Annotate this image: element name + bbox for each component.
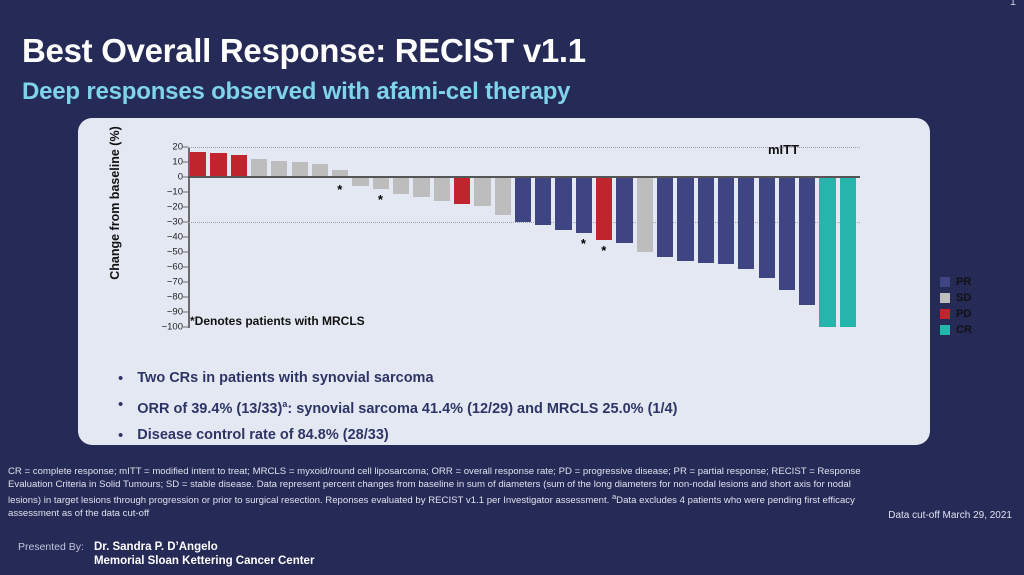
y-tick-mark (183, 327, 188, 328)
waterfall-bar (352, 177, 368, 186)
waterfall-bar (799, 177, 815, 305)
legend-item[interactable]: PR (940, 276, 972, 288)
content-card: Change from baseline (%) 20100−10−20−30−… (78, 118, 930, 445)
legend-item[interactable]: PD (940, 308, 972, 320)
plot-area: 20100−10−20−30−40−50−60−70−80−90−100**** (188, 147, 858, 327)
mitt-annotation: mITT (768, 142, 799, 157)
legend-item[interactable]: SD (940, 292, 972, 304)
waterfall-bar (312, 164, 328, 178)
waterfall-bar (840, 177, 856, 327)
y-tick-label: −90 (167, 307, 183, 318)
y-tick-mark (183, 297, 188, 298)
bullet-item: •Two CRs in patients with synovial sarco… (118, 370, 677, 387)
bullet-list: •Two CRs in patients with synovial sarco… (118, 370, 677, 453)
data-cutoff: Data cut-off March 29, 2021 (888, 510, 1012, 521)
bullet-item: •ORR of 39.4% (13/33)a: synovial sarcoma… (118, 396, 677, 418)
bullet-text: Disease control rate of 84.8% (28/33) (137, 427, 388, 444)
waterfall-bar (373, 177, 389, 189)
legend-label: SD (956, 292, 971, 304)
y-axis-label: Change from baseline (%) (108, 108, 122, 298)
mrcls-note: *Denotes patients with MRCLS (190, 314, 365, 328)
footnote: CR = complete response; mITT = modified … (8, 466, 868, 521)
y-tick-label: −40 (167, 232, 183, 243)
waterfall-bar (474, 177, 490, 206)
waterfall-bar (210, 153, 226, 177)
y-tick-label: 20 (172, 142, 183, 153)
y-tick-label: 10 (172, 157, 183, 168)
page-title: Best Overall Response: RECIST v1.1 (22, 32, 586, 70)
legend-label: CR (956, 324, 972, 336)
waterfall-bar (190, 152, 206, 178)
waterfall-bar (698, 177, 714, 263)
y-tick-mark (183, 192, 188, 193)
bullet-marker-icon: • (118, 370, 123, 387)
bullet-text: Two CRs in patients with synovial sarcom… (137, 370, 433, 387)
mrcls-star-marker: * (378, 193, 383, 206)
waterfall-bar (555, 177, 571, 230)
waterfall-bar (231, 155, 247, 178)
waterfall-bar (718, 177, 734, 264)
bullet-marker-icon: • (118, 396, 123, 413)
y-tick-mark (183, 207, 188, 208)
y-tick-label: −80 (167, 292, 183, 303)
y-tick-label: −50 (167, 247, 183, 258)
y-tick-label: −10 (167, 187, 183, 198)
legend-label: PD (956, 308, 971, 320)
y-tick-label: −30 (167, 217, 183, 228)
mrcls-star-marker: * (581, 237, 586, 250)
waterfall-bar (677, 177, 693, 261)
presenter-block: Presented By: Dr. Sandra P. D’Angelo Mem… (18, 540, 314, 568)
legend-swatch-icon (940, 277, 950, 287)
waterfall-bar (515, 177, 531, 222)
bullet-text: ORR of 39.4% (13/33)a: synovial sarcoma … (137, 396, 677, 418)
waterfall-bar (819, 177, 835, 327)
waterfall-bar (495, 177, 511, 215)
waterfall-bar (576, 177, 592, 233)
waterfall-chart: Change from baseline (%) 20100−10−20−30−… (78, 118, 930, 358)
page-number: 1 (1010, 0, 1016, 8)
legend-label: PR (956, 276, 971, 288)
waterfall-bar (413, 177, 429, 197)
waterfall-bar (434, 177, 450, 201)
legend-swatch-icon (940, 325, 950, 335)
y-tick-label: −100 (162, 322, 183, 333)
y-tick-label: −70 (167, 277, 183, 288)
y-tick-mark (183, 282, 188, 283)
waterfall-bar (271, 161, 287, 178)
waterfall-bar (779, 177, 795, 290)
waterfall-bar (616, 177, 632, 243)
bullet-superscript: a (282, 399, 287, 409)
waterfall-bar (251, 159, 267, 177)
zero-baseline (188, 176, 860, 178)
bullet-item: •Disease control rate of 84.8% (28/33) (118, 427, 677, 444)
waterfall-bar (637, 177, 653, 252)
presenter-name: Dr. Sandra P. D’Angelo (94, 540, 314, 554)
y-tick-label: −20 (167, 202, 183, 213)
y-tick-label: −60 (167, 262, 183, 273)
waterfall-bar (657, 177, 673, 257)
waterfall-bar (292, 162, 308, 177)
legend-swatch-icon (940, 309, 950, 319)
page-subtitle: Deep responses observed with afami-cel t… (22, 78, 570, 106)
waterfall-bar (738, 177, 754, 269)
y-tick-mark (183, 237, 188, 238)
y-tick-mark (183, 267, 188, 268)
gridline (188, 147, 860, 148)
y-tick-mark (183, 252, 188, 253)
y-tick-mark (183, 312, 188, 313)
bullet-marker-icon: • (118, 427, 123, 444)
chart-legend: PRSDPDCR (940, 276, 972, 340)
presented-by-label: Presented By: (18, 540, 84, 568)
mrcls-star-marker: * (601, 244, 606, 257)
legend-swatch-icon (940, 293, 950, 303)
waterfall-bar (454, 177, 470, 204)
presenter-affiliation: Memorial Sloan Kettering Cancer Center (94, 554, 314, 568)
waterfall-bar (596, 177, 612, 240)
waterfall-bar (759, 177, 775, 278)
slide-root: 1 Best Overall Response: RECIST v1.1 Dee… (0, 0, 1024, 575)
waterfall-bar (535, 177, 551, 225)
waterfall-bar (393, 177, 409, 194)
mrcls-star-marker: * (337, 183, 342, 196)
legend-item[interactable]: CR (940, 324, 972, 336)
y-tick-mark (183, 162, 188, 163)
